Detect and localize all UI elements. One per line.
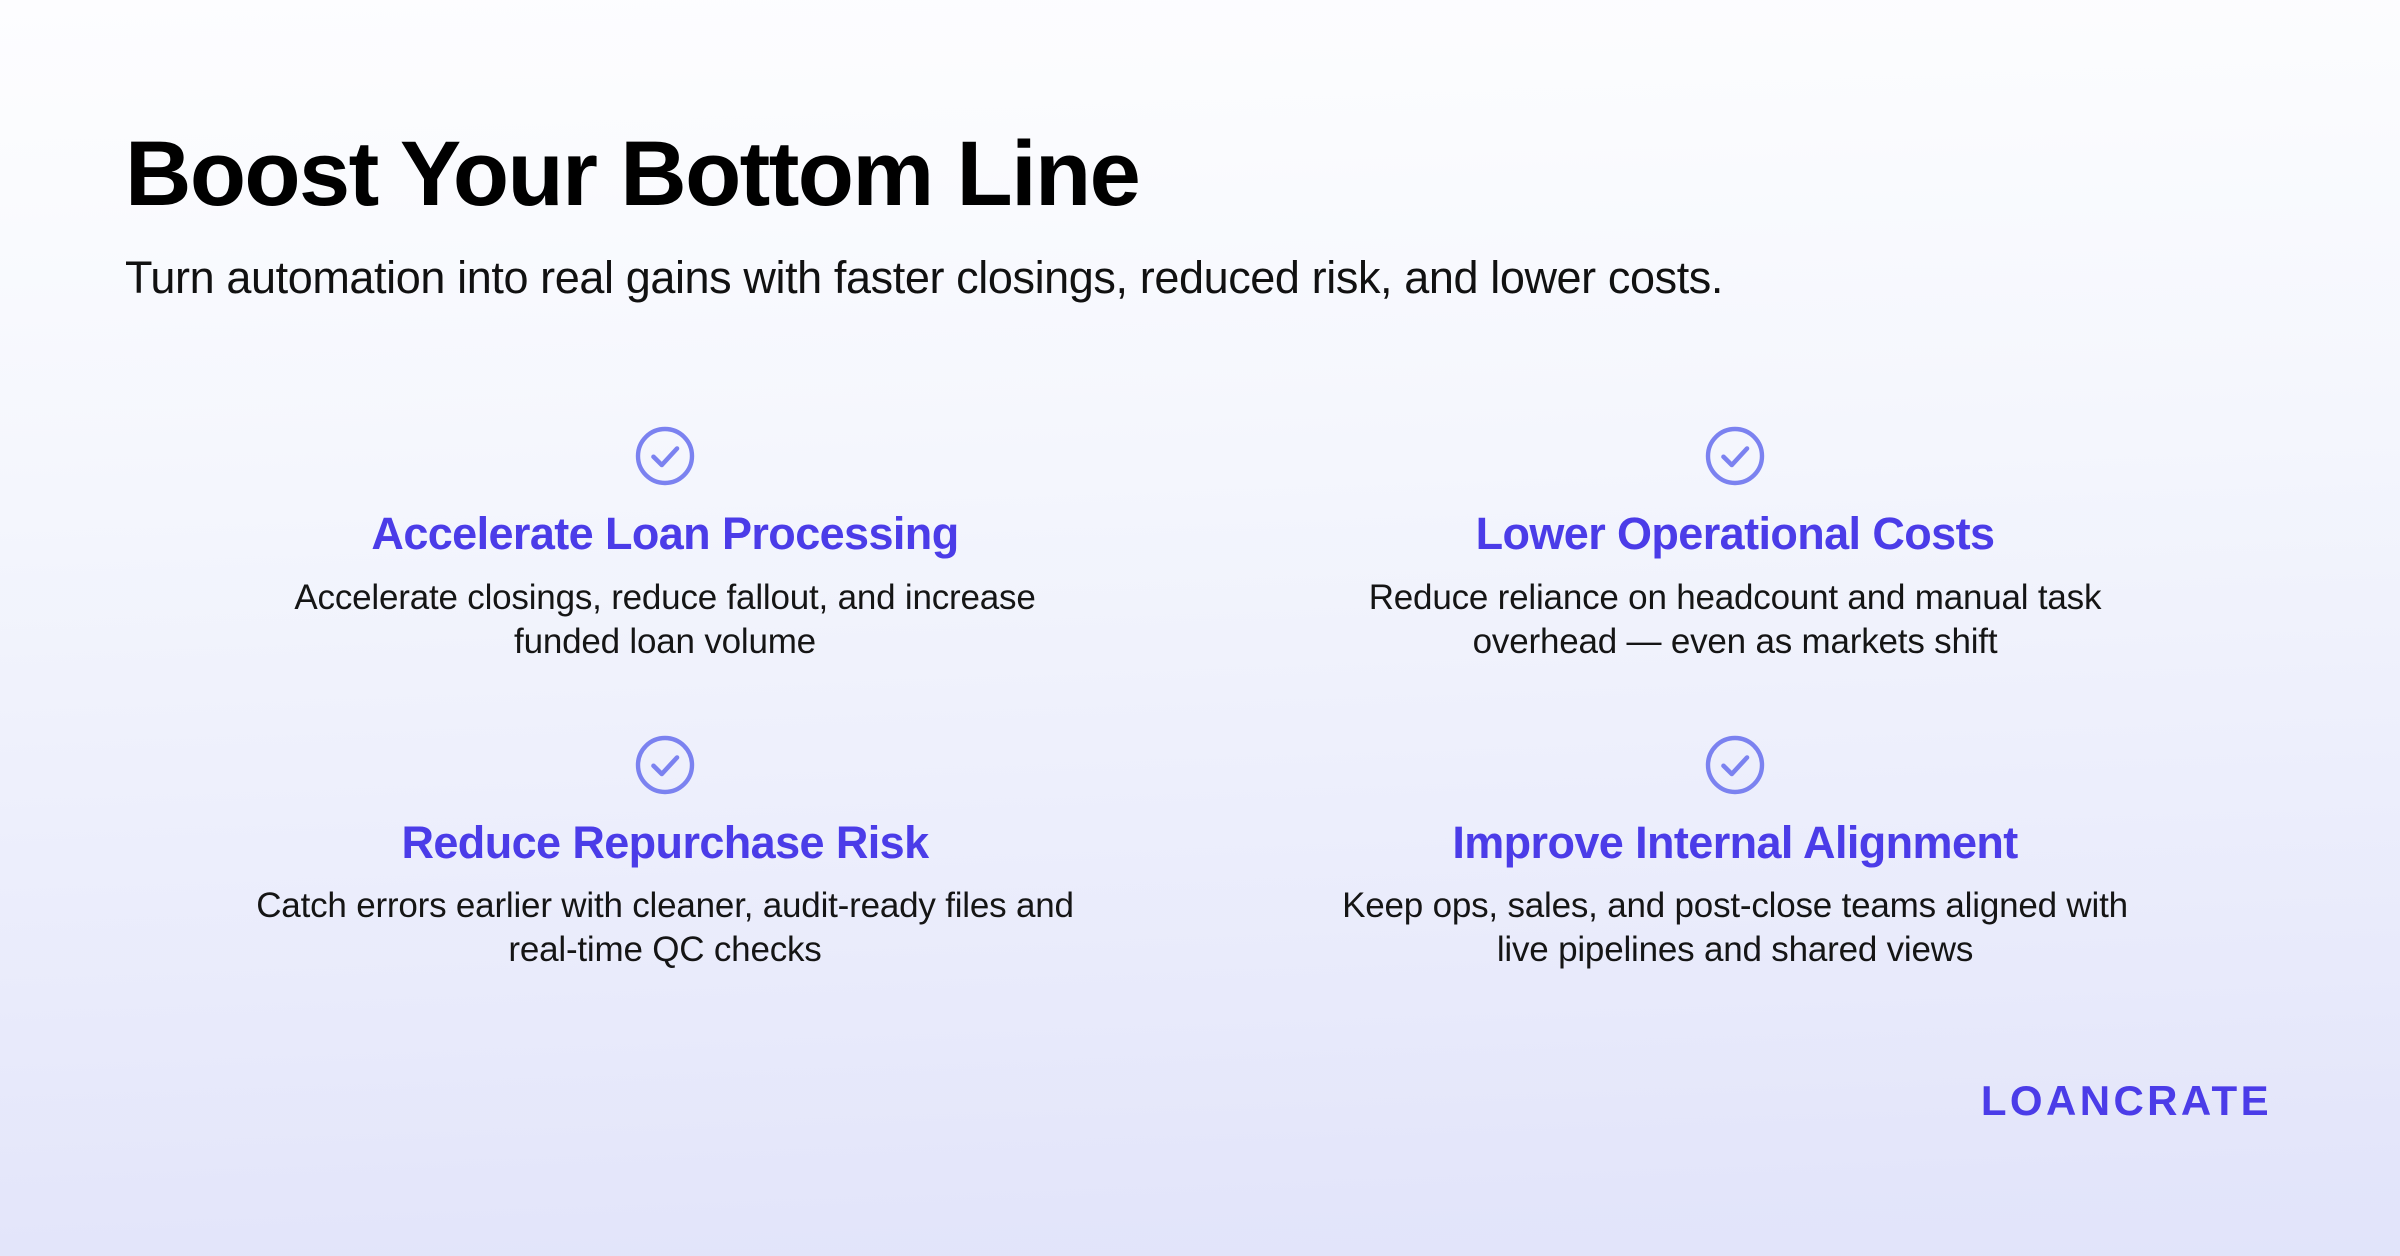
benefit-card-accelerate-loan-processing: Accelerate Loan Processing Accelerate cl… <box>130 425 1200 664</box>
benefit-title: Reduce Repurchase Risk <box>401 818 928 868</box>
benefit-card-lower-operational-costs: Lower Operational Costs Reduce reliance … <box>1200 425 2270 664</box>
page-title: Boost Your Bottom Line <box>125 128 2275 222</box>
benefit-description: Keep ops, sales, and post-close teams al… <box>1315 867 2155 972</box>
benefit-title: Improve Internal Alignment <box>1452 818 2017 868</box>
benefit-description: Accelerate closings, reduce fallout, and… <box>245 559 1085 664</box>
check-circle-icon <box>634 425 696 487</box>
brand-logo: LOANCRATE <box>1981 1077 2272 1125</box>
benefit-title: Accelerate Loan Processing <box>371 509 958 559</box>
benefit-title: Lower Operational Costs <box>1476 509 1995 559</box>
benefit-grid: Accelerate Loan Processing Accelerate cl… <box>130 425 2270 972</box>
benefit-description: Reduce reliance on headcount and manual … <box>1315 559 2155 664</box>
benefit-description: Catch errors earlier with cleaner, audit… <box>245 867 1085 972</box>
benefit-card-improve-internal-alignment: Improve Internal Alignment Keep ops, sal… <box>1200 734 2270 973</box>
header: Boost Your Bottom Line Turn automation i… <box>125 128 2275 303</box>
check-circle-icon <box>1704 734 1766 796</box>
slide-canvas: Boost Your Bottom Line Turn automation i… <box>0 0 2400 1256</box>
check-circle-icon <box>1704 425 1766 487</box>
check-circle-icon <box>634 734 696 796</box>
benefit-card-reduce-repurchase-risk: Reduce Repurchase Risk Catch errors earl… <box>130 734 1200 973</box>
page-subtitle: Turn automation into real gains with fas… <box>125 222 2275 303</box>
